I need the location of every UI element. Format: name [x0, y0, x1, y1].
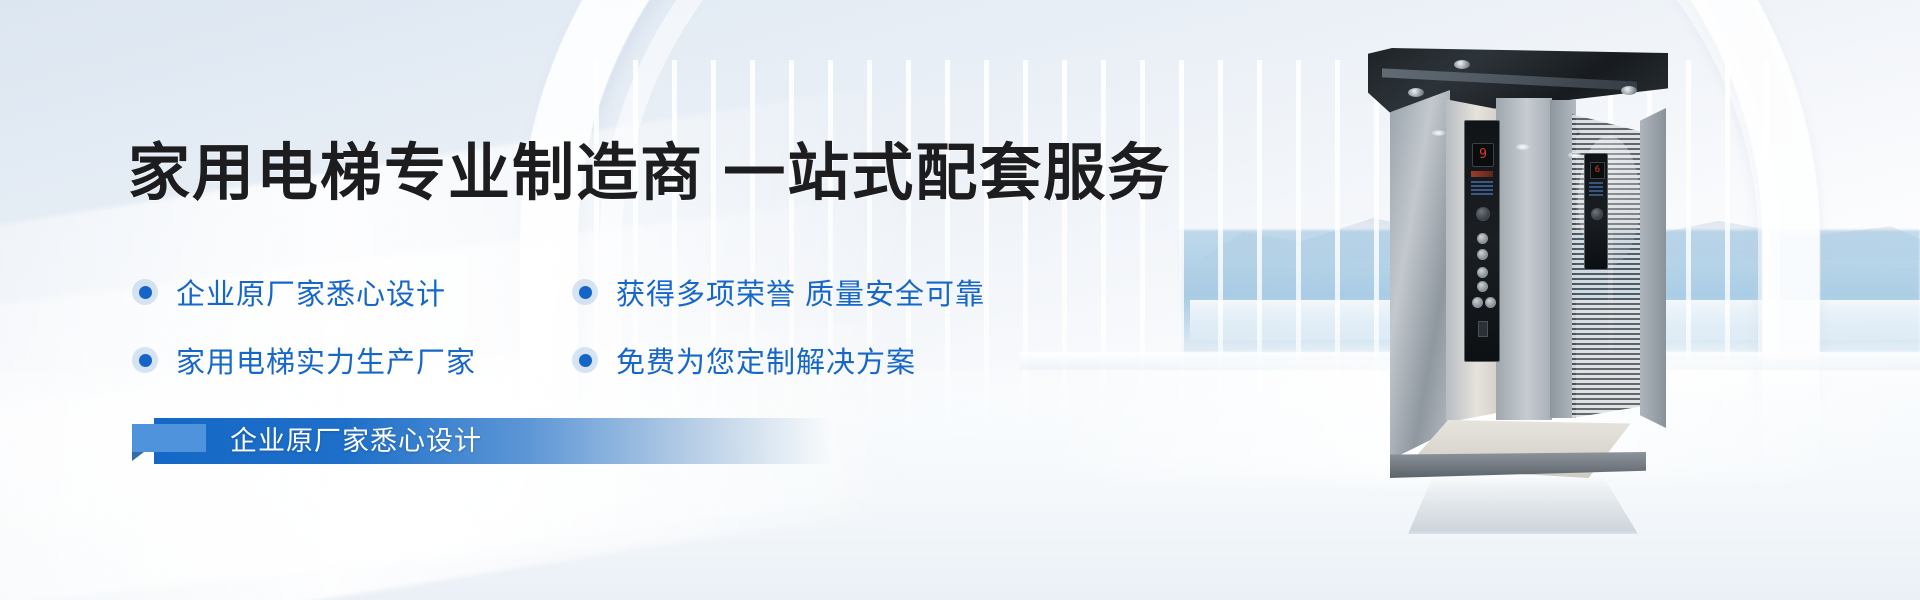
feature-item-1: 企业原厂家悉心设计: [132, 271, 572, 313]
bullet-dot-icon: [572, 347, 598, 373]
feature-item-4: 免费为您定制解决方案: [572, 339, 916, 381]
bullet-dot-icon: [132, 347, 158, 373]
page-title: 家用电梯专业制造商 一站式配套服务: [128, 122, 1171, 212]
feature-label: 免费为您定制解决方案: [616, 339, 916, 381]
feature-label: 家用电梯实力生产厂家: [176, 339, 476, 381]
banner-content: 家用电梯专业制造商 一站式配套服务 企业原厂家悉心设计 获得多项荣誉 质量安全可…: [0, 0, 1920, 600]
feature-item-2: 获得多项荣誉 质量安全可靠: [572, 271, 985, 313]
feature-row: 家用电梯实力生产厂家 免费为您定制解决方案: [132, 326, 1132, 394]
feature-item-3: 家用电梯实力生产厂家: [132, 339, 572, 381]
feature-label: 获得多项荣誉 质量安全可靠: [616, 271, 985, 313]
ribbon-flag-icon: [132, 424, 206, 452]
feature-row: 企业原厂家悉心设计 获得多项荣誉 质量安全可靠: [132, 258, 1132, 326]
feature-label: 企业原厂家悉心设计: [176, 271, 446, 313]
feature-list: 企业原厂家悉心设计 获得多项荣誉 质量安全可靠 家用电梯实力生产厂家 免费为您定…: [132, 258, 1132, 394]
bullet-dot-icon: [132, 279, 158, 305]
ribbon-label: 企业原厂家悉心设计: [230, 418, 482, 464]
highlight-ribbon[interactable]: 企业原厂家悉心设计: [132, 418, 832, 464]
bullet-dot-icon: [572, 279, 598, 305]
hero-banner: 9 6 家用电梯专业制造商 一站式配套服务: [0, 0, 1920, 600]
